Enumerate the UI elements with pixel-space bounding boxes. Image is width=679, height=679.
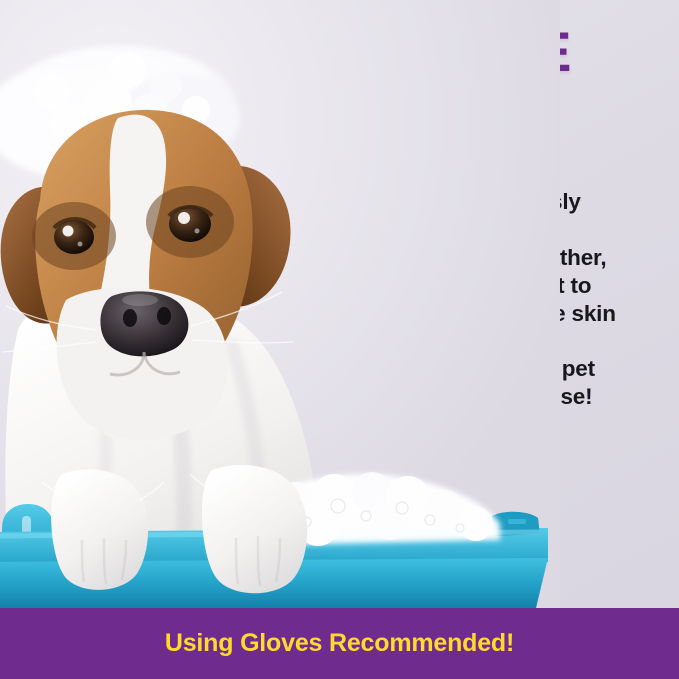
list-item: 2. Work into a thick lather, massaging t… (308, 244, 658, 328)
how-to-use-card: HOW TO USE 1. Wet coat and apply shampoo… (0, 0, 679, 679)
bottom-banner: Using Gloves Recommended! (0, 608, 679, 679)
list-item: 1. Wet coat and apply shampoo generously (308, 160, 658, 216)
instruction-steps-list: 1. Wet coat and apply shampoo generously… (308, 160, 658, 411)
step-text: Wet coat and apply shampoo generously (358, 160, 581, 216)
step-number: 1. (308, 160, 358, 201)
page-title: HOW TO USE (0, 24, 679, 80)
step-text: Work into a thick lather, massaging the … (358, 244, 616, 328)
step-text: Allow to remain on pet 3-5 minutes and r… (358, 355, 595, 411)
step-number: 2. (308, 244, 358, 285)
step-number: 3. (308, 355, 358, 396)
banner-text: Using Gloves Recommended! (165, 629, 514, 658)
list-item: 3. Allow to remain on pet 3-5 minutes an… (308, 355, 658, 411)
